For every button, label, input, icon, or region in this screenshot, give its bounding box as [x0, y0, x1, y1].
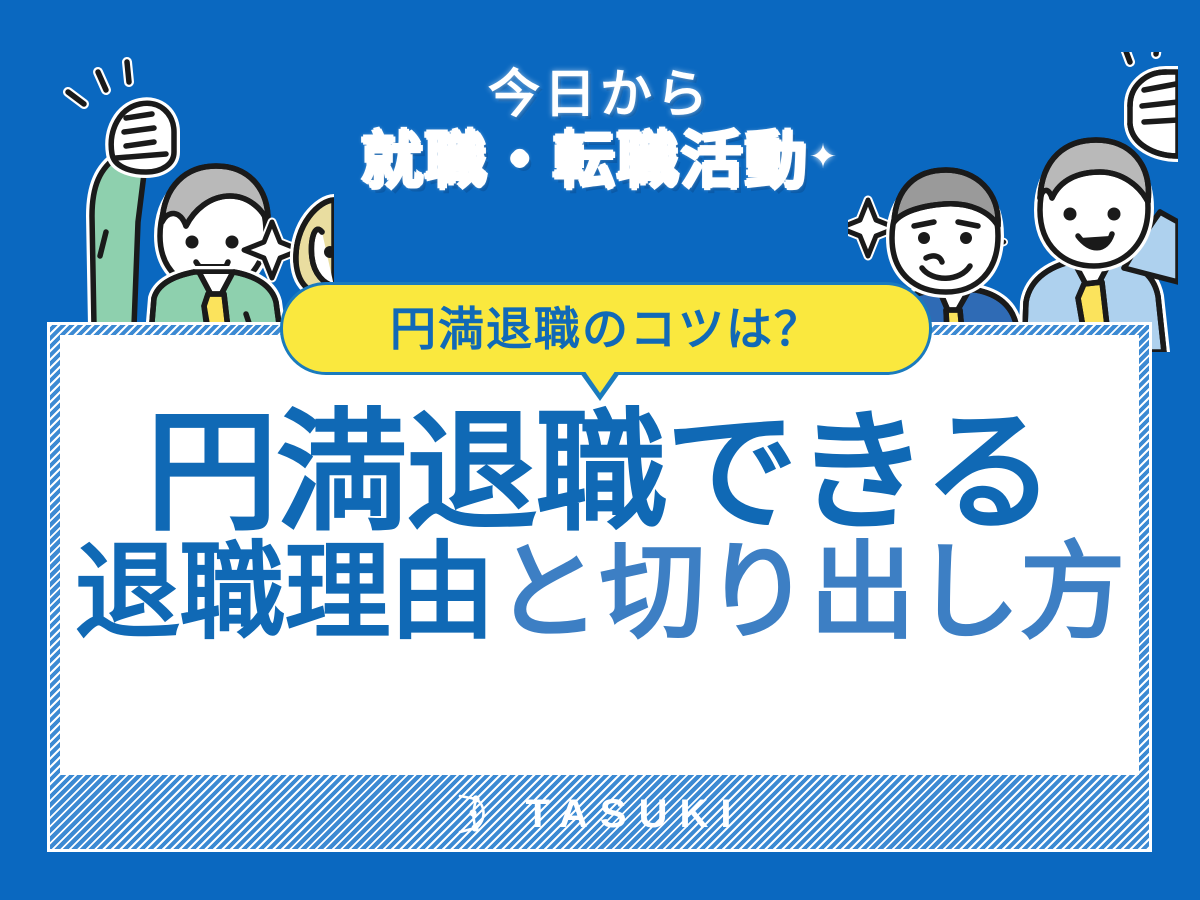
content-card-white — [60, 335, 1139, 775]
sparkle-icon: ✦ — [809, 138, 840, 176]
banner-line-2-text: 就職・転職活動 — [361, 127, 809, 196]
poster-canvas: 今日から 就職・転職活動✦ — [0, 0, 1200, 900]
tasuki-logo-mark-icon — [456, 791, 498, 837]
brand-name: TASUKI — [514, 794, 744, 834]
content-card-frame: TASUKI — [47, 322, 1152, 852]
speech-bubble-text: 円満退職のコツは？ — [390, 306, 822, 352]
speech-bubble: 円満退職のコツは？ — [280, 282, 932, 375]
brand-bar: TASUKI — [60, 775, 1139, 852]
speech-bubble-tail-fill — [584, 370, 616, 393]
